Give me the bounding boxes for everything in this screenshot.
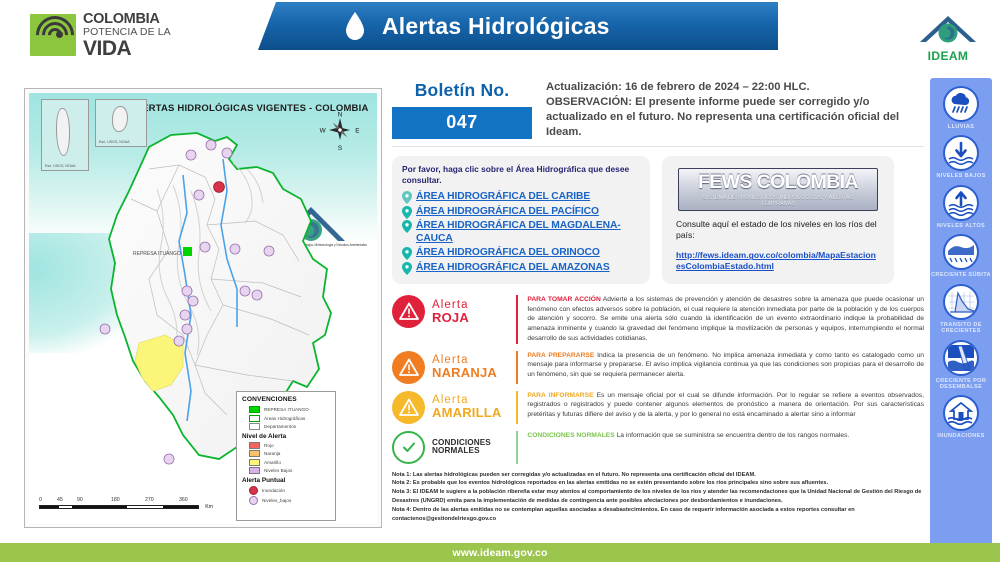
alert-row-normales: CONDICIONES NORMALES CONDICIONES NORMALE… — [392, 431, 924, 464]
link-area-orinoco[interactable]: ÁREA HIDROGRÁFICA DEL ORINOCO — [416, 247, 600, 260]
link-area-amazonas[interactable]: ÁREA HIDROGRÁFICA DEL AMAZONAS — [416, 262, 610, 275]
rain-cloud-icon — [943, 86, 979, 122]
alert-label-line1: Alerta — [432, 299, 469, 311]
rail-label: NIVELES BAJOS — [930, 173, 992, 179]
legend-item: Departamentos — [249, 423, 330, 430]
title-banner: Alertas Hidrológicas — [258, 2, 778, 50]
alert-row-naranja: Alerta NARANJA PARA PREPARARSE Indica la… — [392, 351, 924, 384]
map-inset-san-andres: Esri, USGS, NOAA — [41, 99, 89, 171]
ideam-logo-label: IDEAM — [914, 49, 982, 63]
list-item[interactable]: ÁREA HIDROGRÁFICA DEL AMAZONAS — [402, 262, 640, 275]
colombia-gov-logo: COLOMBIA POTENCIA DE LA VIDA — [30, 12, 210, 58]
list-item[interactable]: ÁREA HIDROGRÁFICA DEL PACÍFICO — [402, 206, 640, 219]
alert-type-rail: LLUVIAS NIVELES BAJOS NIVELES ALTOS CREC… — [930, 78, 992, 548]
alert-description-roja: PARA TOMAR ACCIÓN Advierte a los sistema… — [527, 295, 924, 344]
note-1: Nota 1: Las alertas hidrológicas pueden … — [392, 471, 924, 480]
link-area-caribe[interactable]: ÁREA HIDROGRÁFICA DEL CARIBE — [416, 191, 590, 204]
legend-item: Rojo — [249, 442, 330, 449]
rail-item-transito-crecientes[interactable]: TRANSITO DE CRECIENTES — [930, 284, 992, 335]
legend-swatch-represa — [249, 406, 260, 413]
list-item[interactable]: ÁREA HIDROGRÁFICA DEL CARIBE — [402, 191, 640, 204]
link-area-pacifico[interactable]: ÁREA HIDROGRÁFICA DEL PACÍFICO — [416, 206, 599, 219]
legend-label: Naranja — [264, 451, 280, 456]
gov-logo-line3: VIDA — [83, 38, 171, 59]
list-item[interactable]: ÁREA HIDROGRÁFICA DEL MAGDALENA-CAUCA — [402, 220, 640, 245]
alert-divider — [516, 391, 518, 424]
scale-tick: 360 — [179, 497, 188, 503]
alert-badge-amarilla: Alerta AMARILLA — [392, 391, 516, 424]
note-4: Nota 4: Dentro de las alertas emitidas n… — [392, 506, 924, 524]
list-item[interactable]: ÁREA HIDROGRÁFICA DEL ORINOCO — [402, 247, 640, 260]
alert-label-line2: AMARILLA — [432, 406, 501, 420]
rail-item-lluvias[interactable]: LLUVIAS — [930, 86, 992, 130]
legend-label: Departamentos — [264, 424, 296, 429]
warning-triangle-icon — [392, 391, 425, 424]
bulletin-meta: Actualización: 16 de febrero de 2024 – 2… — [546, 80, 924, 140]
arrow-down-water-icon — [943, 135, 979, 171]
alert-levels-section: Alerta ROJA PARA TOMAR ACCIÓN Advierte a… — [392, 295, 924, 464]
legend-item: Áreas Hidrográficas — [249, 415, 330, 422]
ideam-logo: IDEAM — [914, 8, 982, 60]
alert-label-line2: NARANJA — [432, 366, 497, 380]
legend-label: Áreas Hidrográficas — [264, 416, 305, 421]
legend-swatch-areas — [249, 415, 260, 422]
fews-description: Consulte aquí el estado de los niveles e… — [672, 219, 884, 241]
flooded-house-icon — [943, 395, 979, 431]
alert-badge-naranja: Alerta NARANJA — [392, 351, 516, 384]
note-2: Nota 2: Es probable que los eventos hidr… — [392, 479, 924, 488]
map-pin-icon — [402, 247, 412, 260]
rail-item-creciente-subita[interactable]: CRECIENTE SÚBITA — [930, 234, 992, 278]
gov-logo-line2: POTENCIA DE LA — [83, 27, 171, 38]
map-legend: CONVENCIONES REPRESA ITUANGO Áreas Hidro… — [236, 391, 336, 521]
update-line: Actualización: 16 de febrero de 2024 – 2… — [546, 80, 924, 95]
scale-tick: 45 — [57, 497, 63, 503]
map-pin-icon — [402, 206, 412, 219]
legend-pin-inundacion — [249, 486, 258, 495]
divider — [392, 146, 924, 147]
represa-label: REPRESA ITUANGO — [133, 251, 181, 257]
page-title: Alertas Hidrológicas — [382, 13, 610, 40]
alertas-hidrologicas-page: COLOMBIA POTENCIA DE LA VIDA Alertas Hid… — [0, 0, 1000, 562]
rail-label: LLUVIAS — [930, 124, 992, 130]
arrow-up-water-icon — [943, 185, 979, 221]
svg-text:N: N — [338, 111, 343, 118]
warning-triangle-icon — [392, 351, 425, 384]
observation-line: OBSERVACIÓN: El presente informe puede s… — [546, 95, 924, 140]
legend-title: CONVENCIONES — [242, 396, 330, 403]
map-pin-icon — [402, 191, 412, 204]
bulletin-number: 047 — [392, 107, 532, 139]
page-footer: www.ideam.gov.co — [0, 543, 1000, 562]
legend-label: REPRESA ITUANGO — [264, 407, 309, 412]
bulletin-header: Boletín No. 047 Actualización: 16 de feb… — [392, 80, 924, 140]
legend-label: Niveles Bajos — [264, 468, 292, 473]
rail-label: CRECIENTE SÚBITA — [930, 272, 992, 278]
note-3: Nota 3: El IDEAM le sugiere a la poblaci… — [392, 488, 924, 506]
legend-item: Inundación — [249, 486, 330, 495]
fews-logo: FEWS COLOMBIA SISTEMA DE PRONÓSTICOS HID… — [678, 168, 878, 211]
legend-item: Niveles_bajos — [249, 496, 330, 505]
legend-swatch-niveles-bajos — [249, 467, 260, 474]
alert-lead: PARA TOMAR ACCIÓN — [527, 296, 600, 303]
rail-label: CRECIENTE POR DESEMBALSE — [930, 378, 992, 391]
alert-row-roja: Alerta ROJA PARA TOMAR ACCIÓN Advierte a… — [392, 295, 924, 344]
alert-badge-roja: Alerta ROJA — [392, 295, 516, 328]
rail-item-creciente-desembalse[interactable]: CRECIENTE POR DESEMBALSE — [930, 340, 992, 391]
legend-label: Amarillo — [264, 460, 281, 465]
link-area-magdalena-cauca[interactable]: ÁREA HIDROGRÁFICA DEL MAGDALENA-CAUCA — [416, 220, 640, 245]
svg-text:E: E — [355, 128, 359, 135]
legend-swatch-rojo — [249, 442, 260, 449]
alert-divider — [516, 431, 518, 464]
check-circle-icon — [392, 431, 425, 464]
footer-url: www.ideam.gov.co — [453, 547, 548, 559]
alert-divider — [516, 295, 518, 344]
scale-tick: 180 — [111, 497, 120, 503]
fews-logo-title: FEWS COLOMBIA — [685, 173, 871, 193]
gov-logo-line1: COLOMBIA — [83, 12, 171, 27]
alert-lead: PARA PREPARARSE — [527, 352, 594, 359]
legend-item: Naranja — [249, 450, 330, 457]
notes-section: Nota 1: Las alertas hidrológicas pueden … — [392, 471, 924, 524]
panels-row: Por favor, haga clic sobre el Área Hidro… — [392, 156, 924, 284]
alert-description-naranja: PARA PREPARARSE Indica la presencia de u… — [527, 351, 924, 380]
main-content: Boletín No. 047 Actualización: 16 de feb… — [392, 80, 924, 542]
panel-hint: Por favor, haga clic sobre el Área Hidro… — [402, 164, 640, 185]
map-panel[interactable]: ALERTAS HIDROLÓGICAS VIGENTES - COLOMBIA… — [24, 88, 382, 528]
alert-lead: PARA INFORMARSE — [527, 392, 593, 399]
ideam-roof-icon — [914, 8, 982, 48]
legend-swatch-amarillo — [249, 459, 260, 466]
legend-swatch-departamentos — [249, 423, 260, 430]
flash-flood-icon — [943, 234, 979, 270]
legend-item: Niveles Bajos — [249, 467, 330, 474]
rail-item-niveles-bajos[interactable]: NIVELES BAJOS — [930, 135, 992, 179]
fews-colombia-panel: FEWS COLOMBIA SISTEMA DE PRONÓSTICOS HID… — [662, 156, 894, 284]
legend-item: REPRESA ITUANGO — [249, 406, 330, 413]
scale-tick: 270 — [145, 497, 154, 503]
legend-label: Inundación — [262, 488, 285, 493]
scale-tick: 90 — [77, 497, 83, 503]
inundacion-marker — [214, 182, 225, 193]
warning-triangle-icon — [392, 295, 425, 328]
map-canvas[interactable]: ALERTAS HIDROLÓGICAS VIGENTES - COLOMBIA… — [29, 93, 377, 523]
bulletin-block: Boletín No. 047 — [392, 80, 532, 139]
legend-pin-niveles-bajos — [249, 496, 258, 505]
inset1-source: Esri, USGS, NOAA — [45, 164, 76, 168]
alert-label-line2: ROJA — [432, 311, 469, 325]
legend-label: Rojo — [264, 443, 274, 448]
map-pin-icon — [402, 262, 412, 275]
alert-divider — [516, 351, 518, 384]
alert-badge-normales: CONDICIONES NORMALES — [392, 431, 516, 464]
rail-item-niveles-altos[interactable]: NIVELES ALTOS — [930, 185, 992, 229]
scale-unit: Km — [205, 504, 213, 510]
map-pin-icon — [402, 220, 412, 233]
rail-label: TRANSITO DE CRECIENTES — [930, 322, 992, 335]
dam-release-icon — [943, 340, 979, 376]
hydrographic-areas-panel: Por favor, haga clic sobre el Área Hidro… — [392, 156, 650, 284]
alert-row-amarilla: Alerta AMARILLA PARA INFORMARSE Es un me… — [392, 391, 924, 424]
alert-lead: CONDICIONES NORMALES — [527, 432, 614, 439]
alert-description-normales: CONDICIONES NORMALES La información que … — [527, 431, 924, 441]
water-drop-icon — [344, 11, 366, 41]
map-scalebar: 0 45 90 180 270 360 Km — [39, 497, 199, 510]
colombia-logo-mark-icon — [30, 14, 76, 56]
rail-label: NIVELES ALTOS — [930, 223, 992, 229]
scale-tick: 0 — [39, 497, 42, 503]
legend-swatch-naranja — [249, 450, 260, 457]
alert-description-amarilla: PARA INFORMARSE Es un mensaje oficial po… — [527, 391, 924, 420]
legend-label: Niveles_bajos — [262, 498, 291, 503]
legend-point-title: Alerta Puntual — [242, 477, 330, 484]
scale-bar-graphic — [39, 505, 199, 510]
fews-url-link[interactable]: http://fews.ideam.gov.co/colombia/MapaEs… — [672, 250, 884, 272]
hydrograph-icon — [943, 284, 979, 320]
alert-body: La información que se suministra se encu… — [617, 432, 850, 439]
page-header: COLOMBIA POTENCIA DE LA VIDA Alertas Hid… — [0, 0, 1000, 66]
represa-ituango-marker — [183, 247, 192, 256]
rail-item-inundaciones[interactable]: INUNDACIONES — [930, 395, 992, 439]
bulletin-label: Boletín No. — [392, 80, 532, 101]
legend-level-title: Nivel de Alerta — [242, 433, 330, 440]
legend-item: Amarillo — [249, 459, 330, 466]
rail-label: INUNDACIONES — [930, 433, 992, 439]
fews-logo-subtitle: SISTEMA DE PRONÓSTICOS HIDROLÓGICOS Y AL… — [685, 195, 871, 207]
alert-label-line2: NORMALES — [432, 447, 491, 456]
